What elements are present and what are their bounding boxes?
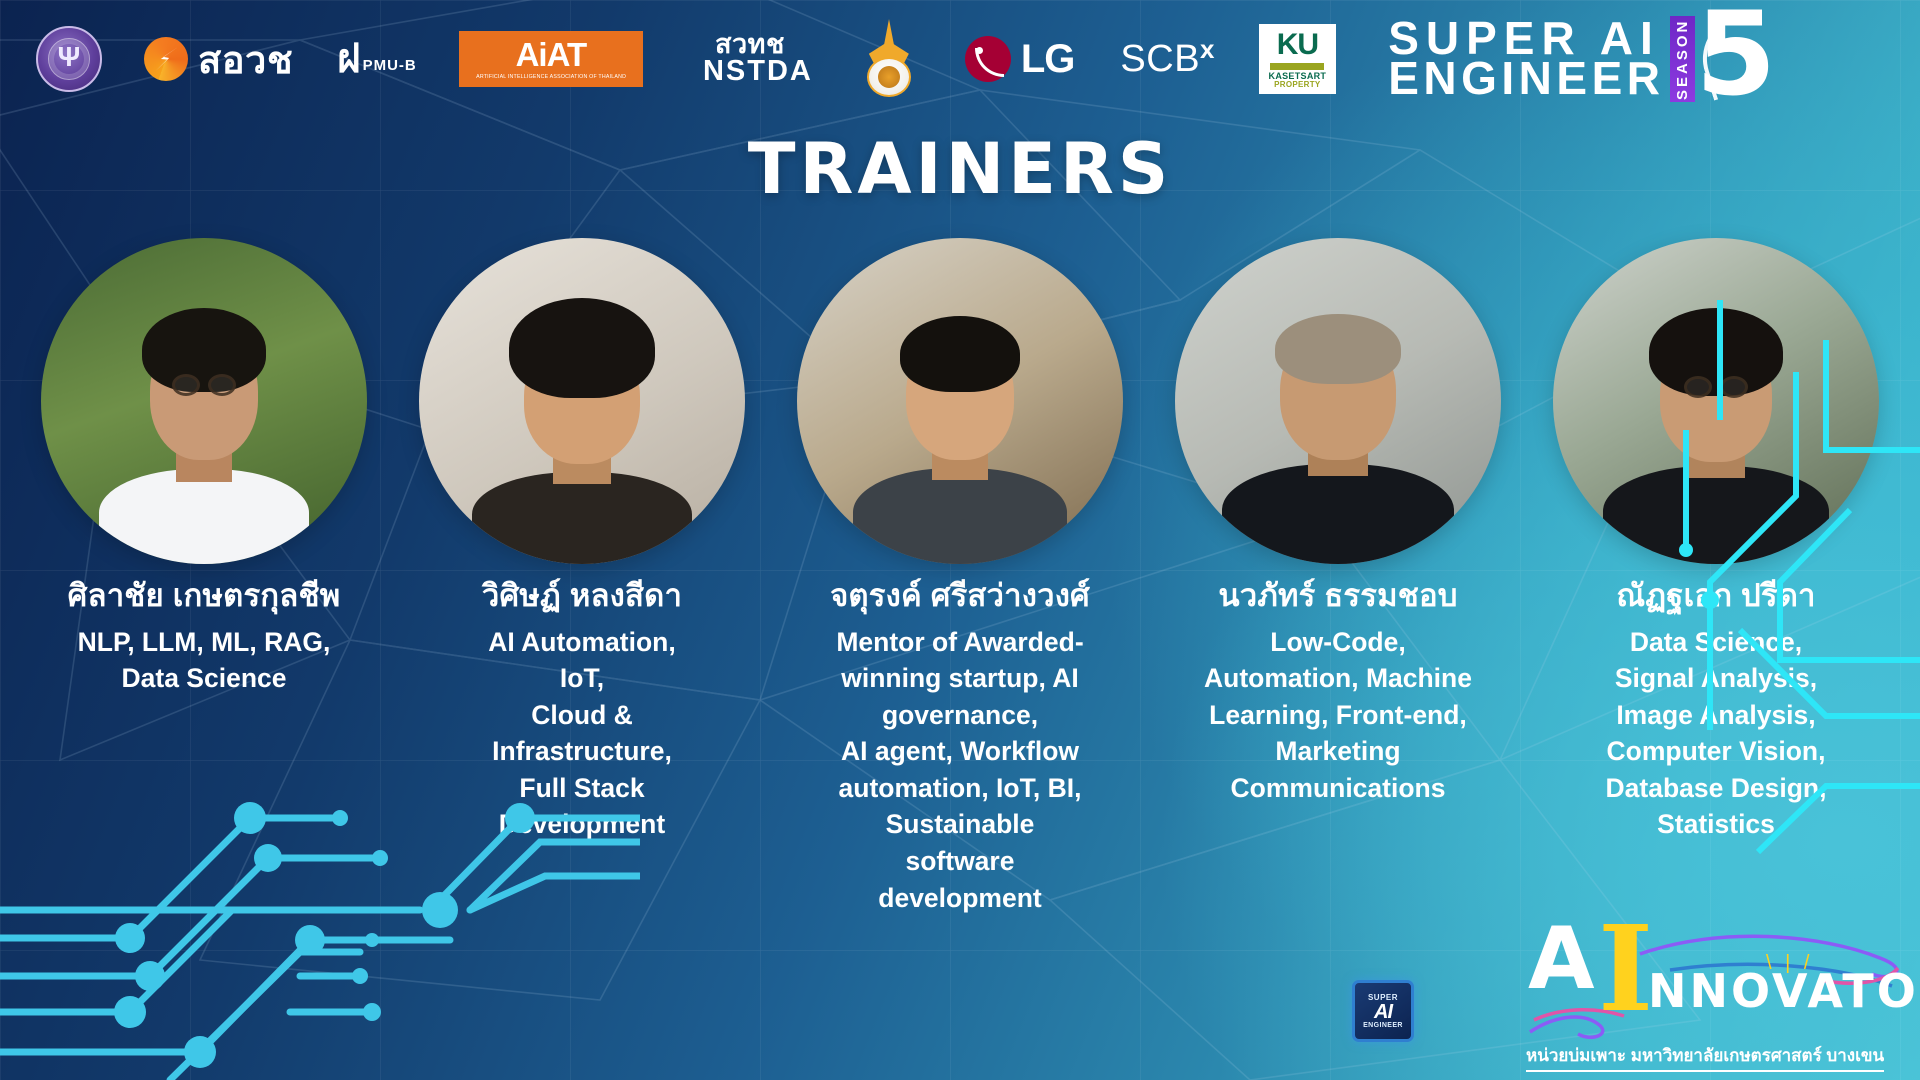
lg-label: LG [1021, 37, 1075, 82]
royal-seal-icon: Ψ [36, 26, 102, 92]
trainer-grid: ศิลาชัย เกษตรกุลชีพ NLP, LLM, ML, RAG,Da… [22, 238, 1898, 916]
trainer-card[interactable]: นวภัทร์ ธรรมชอบ Low-Code,Automation, Mac… [1156, 238, 1520, 916]
trainer-name: ศิลาชัย เกษตรกุลชีพ [68, 578, 341, 614]
sponsor-logo-lg: LG [965, 36, 1075, 82]
avatar-glasses-icon [172, 374, 236, 396]
avatar-torso [1222, 464, 1454, 564]
page-title: TRAINERS [0, 128, 1920, 210]
brand-season-number: 5 [1695, 0, 1776, 113]
brand-logo-super-ai-engineer: SUPER AI ENGINEER SEASON 5 [1388, 11, 1791, 107]
avatar-torso [472, 472, 692, 564]
avatar-torso [853, 468, 1067, 564]
pmub-thai-glyph: ฝ [337, 41, 360, 77]
trainer-name: ณัฏฐเอก ปรีดา [1616, 578, 1815, 614]
sponsor-logo-nxpo: สอวช [144, 29, 293, 90]
avatar [1553, 238, 1879, 564]
sponsor-logo-aiat: AiAT ARTIFICIAL INTELLIGENCE ASSOCIATION… [459, 31, 643, 87]
trainer-card[interactable]: ศิลาชัย เกษตรกุลชีพ NLP, LLM, ML, RAG,Da… [22, 238, 386, 916]
avatar [1175, 238, 1501, 564]
sponsor-logo-pmub: ฝ PMU-B [337, 41, 417, 77]
nxpo-label: สอวช [198, 29, 293, 90]
sponsor-logo-garuda [813, 19, 919, 99]
brand-line-2: ENGINEER [1388, 59, 1664, 99]
avatar-hair [1275, 314, 1401, 384]
chip-line-3: ENGINEER [1363, 1022, 1403, 1029]
emblem-disc [867, 57, 911, 97]
avatar-torso [1603, 466, 1829, 564]
aiat-sublabel: ARTIFICIAL INTELLIGENCE ASSOCIATION OF T… [476, 75, 626, 80]
trainer-name: จตุรงค์ ศรีสว่างวงศ์ [830, 578, 1090, 614]
sponsor-logo-nstda: สวทช NSTDA [687, 32, 813, 85]
sponsor-logo-ku: KU KASETSART PROPERTY [1259, 24, 1337, 94]
brand-season-number-wrap: 5 [1699, 11, 1791, 107]
chip-line-2: AI [1374, 1002, 1392, 1022]
brand-season-label: SEASON [1670, 16, 1695, 102]
ai-letter-i: I [1598, 910, 1653, 1028]
ku-divider [1270, 63, 1324, 70]
trident-glyph: Ψ [58, 43, 81, 71]
pmub-label: PMU-B [363, 57, 417, 74]
sponsor-logo-scbx: SCB x [1120, 38, 1214, 81]
trainer-skills: AI Automation,IoT,Cloud &Infrastructure,… [488, 624, 675, 843]
trainer-card[interactable]: วิศิษฏ์ หลงสีดา AI Automation,IoT,Cloud … [400, 238, 764, 916]
avatar [797, 238, 1123, 564]
trainer-skills: Mentor of Awarded-winning startup, AIgov… [836, 624, 1083, 917]
ku-label: KU [1277, 30, 1318, 60]
trainer-skills: NLP, LLM, ML, RAG,Data Science [78, 624, 331, 697]
ku-sublabel-2: PROPERTY [1274, 81, 1320, 89]
trainer-skills: Low-Code,Automation, MachineLearning, Fr… [1204, 624, 1472, 807]
sponsor-logo-bar: Ψ สอวช ฝ PMU-B AiAT ARTIFICIAL INTELLIGE… [0, 0, 1920, 118]
trainer-skills: Data Science,Signal Analysis,Image Analy… [1606, 624, 1827, 843]
nxpo-arrow-icon [144, 37, 188, 81]
sponsor-logo-royal-seal: Ψ [36, 26, 102, 92]
super-ai-engineer-chip-badge: SUPER AI ENGINEER [1352, 980, 1414, 1042]
ai-letter-a: A [1528, 916, 1595, 1002]
trainer-card[interactable]: ณัฏฐเอก ปรีดา Data Science,Signal Analys… [1534, 238, 1898, 916]
avatar-torso [99, 469, 309, 564]
ai-innovator-logo: A I \ | / NNOVATOR หน่วยบ่มเพาะ มหาวิทยา… [1520, 920, 1920, 1075]
trainer-name: นวภัทร์ ธรรมชอบ [1218, 578, 1457, 614]
lg-face-icon [965, 36, 1011, 82]
ai-innovator-wordmark: A I \ | / NNOVATOR [1520, 920, 1920, 994]
avatar [41, 238, 367, 564]
avatar-hair [900, 316, 1020, 392]
brand-wordmark: SUPER AI ENGINEER [1388, 19, 1664, 98]
avatar-glasses-icon [1684, 376, 1748, 398]
scbx-superscript: x [1200, 34, 1214, 65]
trainer-card[interactable]: จตุรงค์ ศรีสว่างวงศ์ Mentor of Awarded-w… [778, 238, 1142, 916]
nstda-label: NSTDA [703, 58, 813, 86]
avatar [419, 238, 745, 564]
trainer-name: วิศิษฏ์ หลงสีดา [482, 578, 682, 614]
ai-innovator-subtitle: หน่วยบ่มเพาะ มหาวิทยาลัยเกษตรศาสตร์ บางเ… [1526, 1042, 1884, 1072]
ai-innovator-word: NNOVATOR [1648, 968, 1920, 1014]
scbx-label: SCB [1120, 38, 1200, 81]
garuda-emblem-icon [859, 19, 919, 99]
avatar-hair [509, 298, 655, 398]
poster-canvas: Ψ สอวช ฝ PMU-B AiAT ARTIFICIAL INTELLIGE… [0, 0, 1920, 1080]
aiat-label: AiAT [516, 38, 587, 71]
